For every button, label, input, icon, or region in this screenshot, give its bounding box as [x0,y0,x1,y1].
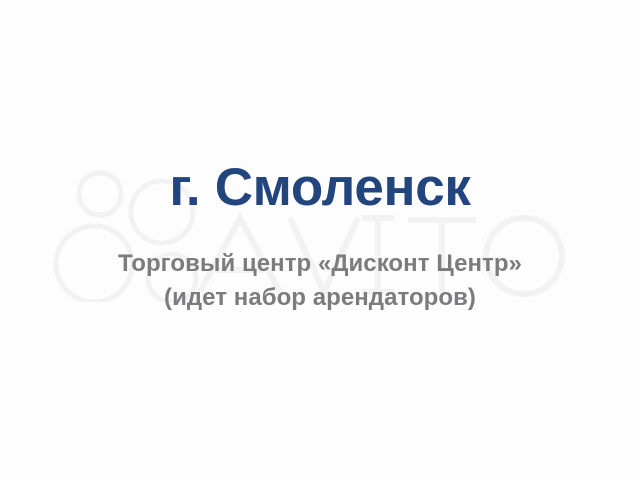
subtitle-line-venue: Торговый центр «Дисконт Центр» [0,247,640,281]
subtitle-block: Торговый центр «Дисконт Центр» (идет наб… [0,247,640,315]
page-title: г. Смоленск [0,160,640,216]
text-content: г. Смоленск Торговый центр «Дисконт Цент… [0,0,640,480]
advertisement-image: г. Смоленск Торговый центр «Дисконт Цент… [0,0,640,480]
subtitle-line-status: (идет набор арендаторов) [0,281,640,315]
